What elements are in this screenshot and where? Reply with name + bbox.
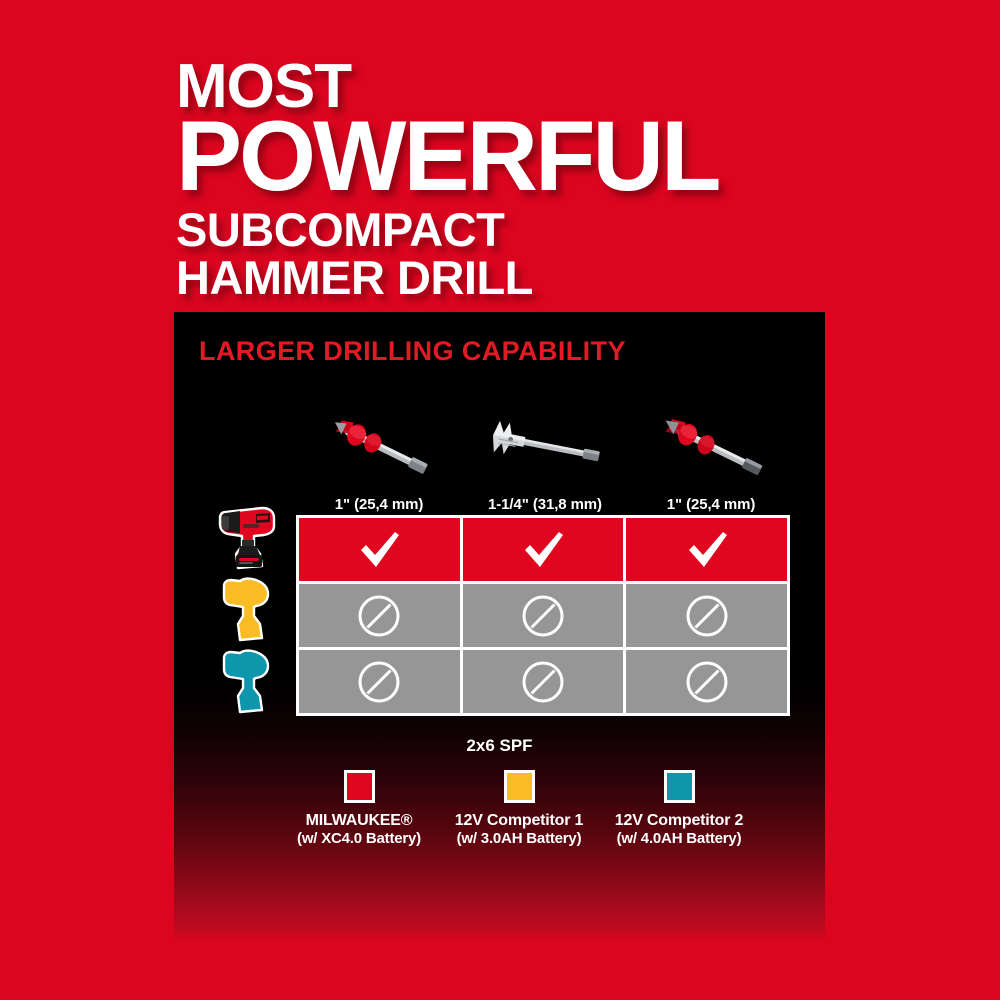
headline-line-4: HAMMER DRILL xyxy=(176,254,976,301)
spade-bit-icon xyxy=(462,400,628,492)
headline-line-2: POWERFUL xyxy=(176,111,976,200)
drill-bit-row xyxy=(296,400,796,492)
auger-bit-icon-2 xyxy=(628,400,794,492)
competitor-2-drill-icon xyxy=(202,646,292,716)
prohibited-icon xyxy=(356,593,402,639)
legend-swatch-competitor-1 xyxy=(504,770,535,803)
bit-size-label-3: 1" (25,4 mm) xyxy=(628,496,794,513)
legend-label-milwaukee: MILWAUKEE® xyxy=(279,812,439,830)
legend-sub-competitor-1: (w/ 3.0AH Battery) xyxy=(439,830,599,848)
legend-label-competitor-2: 12V Competitor 2 xyxy=(599,812,759,830)
panel-title: LARGER DRILLING CAPABILITY xyxy=(199,336,626,367)
prohibited-icon xyxy=(520,659,566,705)
prohibited-icon xyxy=(684,593,730,639)
comparison-panel: LARGER DRILLING CAPABILITY xyxy=(174,312,825,942)
grid-cell-row2-col2 xyxy=(463,584,624,647)
grid-cell-row3-col3 xyxy=(626,650,787,713)
grid-cell-row1-col3 xyxy=(626,518,787,581)
legend-sub-milwaukee: (w/ XC4.0 Battery) xyxy=(279,830,439,848)
capability-grid xyxy=(296,515,790,716)
check-icon xyxy=(519,528,567,572)
bit-size-label-1: 1" (25,4 mm) xyxy=(296,496,462,513)
competitor-1-drill-icon xyxy=(202,574,292,644)
legend-swatch-competitor-2 xyxy=(664,770,695,803)
grid-cell-row1-col1 xyxy=(299,518,460,581)
grid-cell-row3-col1 xyxy=(299,650,460,713)
headline-block: MOST POWERFUL SUBCOMPACT HAMMER DRILL xyxy=(176,58,976,301)
legend-item-competitor-1: 12V Competitor 1 (w/ 3.0AH Battery) xyxy=(439,770,599,848)
material-caption: 2x6 SPF xyxy=(174,736,825,756)
legend-item-milwaukee: MILWAUKEE® (w/ XC4.0 Battery) xyxy=(279,770,439,848)
prohibited-icon xyxy=(684,659,730,705)
grid-cell-row2-col3 xyxy=(626,584,787,647)
milwaukee-drill-icon xyxy=(202,502,292,572)
grid-cell-row3-col2 xyxy=(463,650,624,713)
check-icon xyxy=(355,528,403,572)
bit-size-label-2: 1-1/4" (31,8 mm) xyxy=(462,496,628,513)
tool-icon-column xyxy=(202,502,292,714)
grid-cell-row1-col2 xyxy=(463,518,624,581)
check-icon xyxy=(683,528,731,572)
promo-graphic: MOST POWERFUL SUBCOMPACT HAMMER DRILL LA… xyxy=(0,0,1000,1000)
legend-swatch-milwaukee xyxy=(344,770,375,803)
legend-sub-competitor-2: (w/ 4.0AH Battery) xyxy=(599,830,759,848)
headline-line-3: SUBCOMPACT xyxy=(176,206,976,253)
auger-bit-icon xyxy=(296,400,462,492)
legend-label-competitor-1: 12V Competitor 1 xyxy=(439,812,599,830)
legend: MILWAUKEE® (w/ XC4.0 Battery) 12V Compet… xyxy=(279,770,759,870)
legend-item-competitor-2: 12V Competitor 2 (w/ 4.0AH Battery) xyxy=(599,770,759,848)
grid-cell-row2-col1 xyxy=(299,584,460,647)
prohibited-icon xyxy=(356,659,402,705)
prohibited-icon xyxy=(520,593,566,639)
